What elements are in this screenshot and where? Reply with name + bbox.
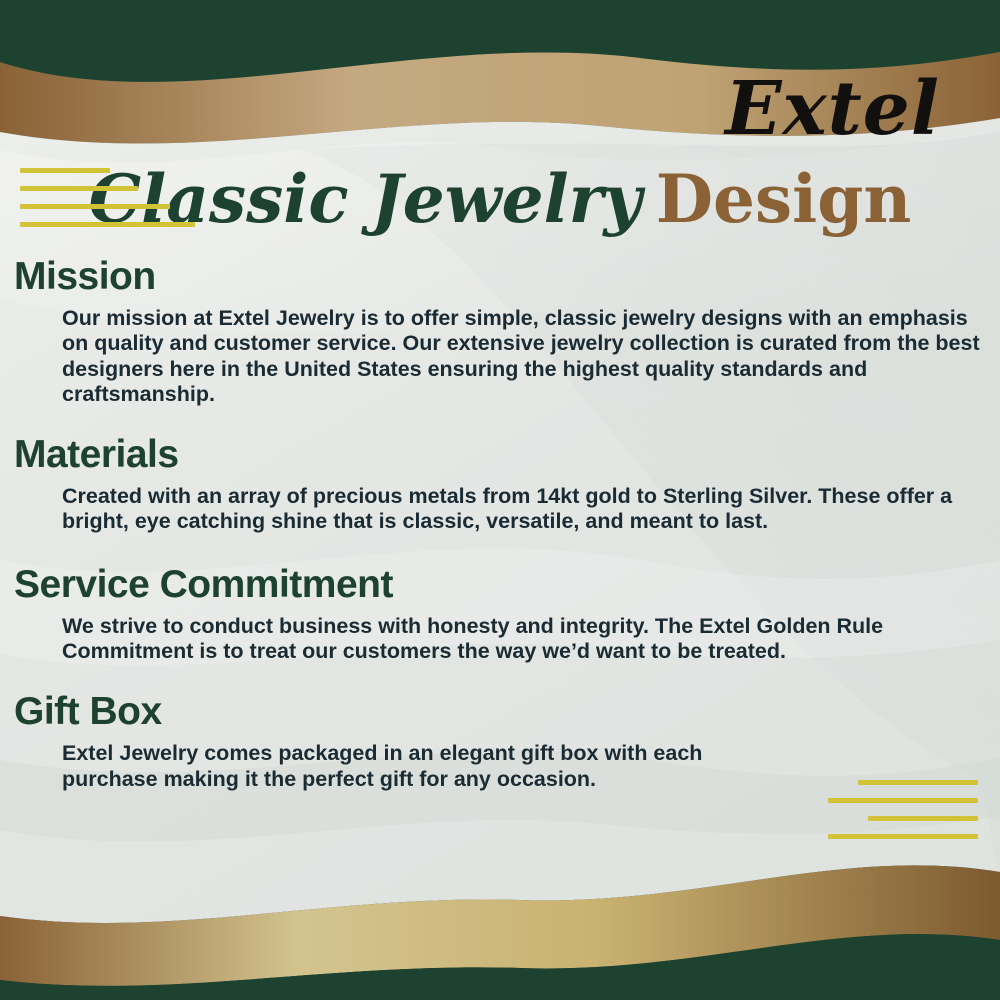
section-body: We strive to conduct business with hones…: [62, 614, 986, 665]
accent-line: [868, 816, 978, 821]
sections-list: Mission Our mission at Extel Jewelry is …: [14, 255, 986, 792]
section-title: Mission: [14, 255, 986, 300]
poster-content: Extel Classic JewelryDesign Mission Our …: [0, 0, 1000, 1000]
brand-wordmark: Extel: [725, 72, 940, 146]
accent-line: [20, 222, 195, 227]
section-title: Materials: [14, 433, 986, 478]
section-title: Service Commitment: [14, 563, 986, 608]
section-body: Created with an array of precious metals…: [62, 484, 986, 535]
section-gift-box: Gift Box Extel Jewelry comes packaged in…: [14, 690, 986, 792]
section-body: Extel Jewelry comes packaged in an elega…: [62, 741, 762, 792]
section-mission: Mission Our mission at Extel Jewelry is …: [14, 255, 986, 407]
accent-line: [20, 186, 138, 191]
accent-line: [20, 204, 170, 209]
section-body: Our mission at Extel Jewelry is to offer…: [62, 306, 986, 407]
accent-line: [828, 798, 978, 803]
accent-lines-top: [20, 168, 195, 240]
page-title-bold: Design: [656, 160, 912, 238]
section-title: Gift Box: [14, 690, 986, 735]
accent-line: [20, 168, 110, 173]
accent-line: [828, 834, 978, 839]
section-materials: Materials Created with an array of preci…: [14, 433, 986, 535]
poster: Extel Classic JewelryDesign Mission Our …: [0, 0, 1000, 1000]
section-service-commitment: Service Commitment We strive to conduct …: [14, 563, 986, 665]
